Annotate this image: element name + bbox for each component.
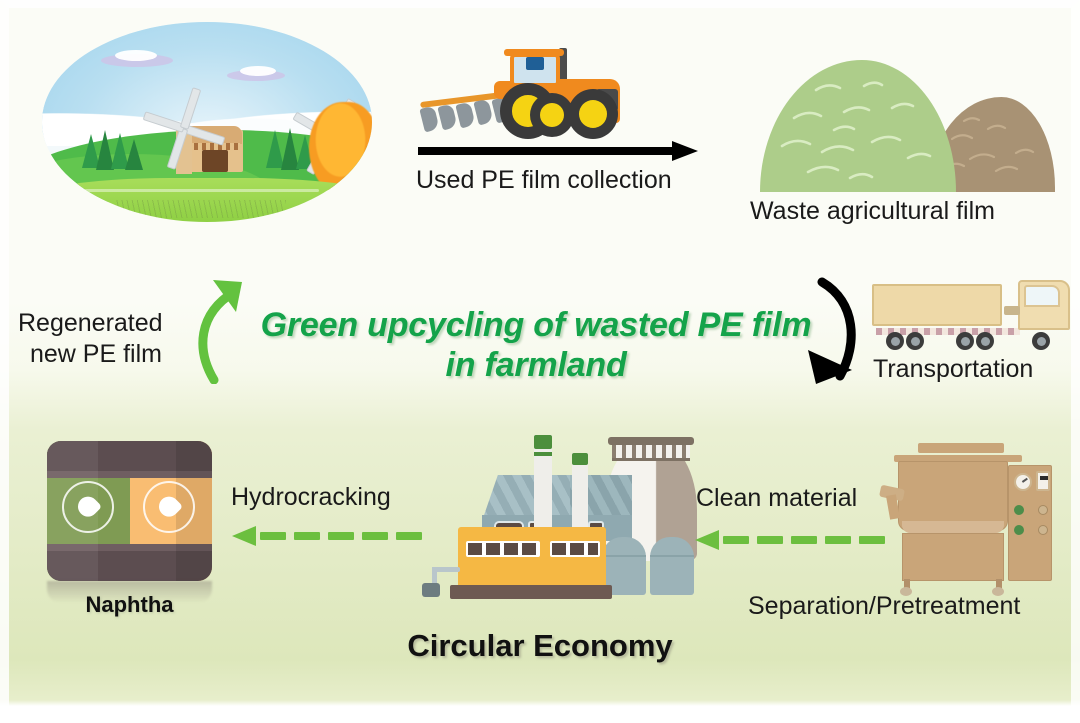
arrow-dash — [396, 532, 422, 540]
machine-button-plain — [1038, 525, 1048, 535]
tractor-icon — [418, 45, 633, 150]
tractor-front-wheel — [568, 89, 618, 139]
separation-machine-icon — [878, 443, 1063, 595]
farm-landscape-icon — [42, 22, 372, 222]
window-row-right — [550, 541, 600, 557]
label-clean-material: Clean material — [696, 484, 857, 513]
label-separation-pretreatment: Separation/Pretreatment — [748, 592, 1020, 621]
machine-lower-body — [902, 533, 1004, 581]
intake-valve — [422, 583, 440, 597]
window-row-left — [466, 541, 540, 557]
page-title: Green upcycling of wasted PE film in far… — [236, 305, 836, 385]
arrow-dash — [791, 536, 817, 544]
cooling-tower-rim — [608, 437, 694, 445]
cab-roof — [504, 49, 564, 56]
label-naphtha: Naphtha — [47, 592, 212, 618]
oil-barrels-icon — [47, 441, 212, 581]
droplet-badge — [143, 481, 195, 533]
truck-cargo-box — [872, 284, 1002, 326]
storage-tank — [650, 537, 694, 595]
cloud-icon — [115, 50, 157, 61]
arrow-used-pe-film-collection — [418, 142, 698, 160]
machine-top-bar — [918, 443, 1004, 453]
section-title-circular-economy: Circular Economy — [0, 628, 1080, 664]
green-pile — [760, 60, 956, 192]
machine-button-plain — [1038, 505, 1048, 515]
truck-wheel — [976, 332, 994, 350]
pile-texture — [760, 60, 956, 192]
arrow-head — [695, 530, 719, 550]
arrow-dash — [328, 532, 354, 540]
factory-icon — [420, 427, 695, 612]
machine-chamber-inner — [902, 521, 1004, 533]
label-regenerated-line2: new PE film — [30, 340, 162, 369]
waste-pile-icon — [742, 42, 1057, 192]
arrow-clean-material — [695, 532, 891, 548]
figure-canvas: Used PE film collection — [0, 0, 1080, 723]
arrow-dash — [260, 532, 286, 540]
droplet-icon — [155, 492, 183, 520]
arrow-transport-down — [800, 272, 880, 390]
truck-window — [1024, 285, 1060, 307]
cloud-icon — [240, 66, 276, 76]
cab-seat — [526, 57, 544, 70]
tree-icon — [125, 139, 143, 170]
truck-wheel — [906, 332, 924, 350]
title-line-2: in farmland — [445, 346, 626, 384]
truck-wheel — [956, 332, 974, 350]
arrow-hydrocracking — [232, 528, 424, 544]
chimney-stripe — [534, 452, 552, 456]
machine-display — [1036, 471, 1050, 491]
tank-band — [650, 555, 694, 557]
pressure-gauge-icon — [1014, 473, 1032, 491]
machine-button-green — [1014, 505, 1024, 515]
arrow-head — [672, 141, 698, 161]
factory-main-building — [458, 527, 606, 589]
grass-texture — [115, 200, 287, 218]
arrow-head — [232, 526, 256, 546]
field-line — [62, 189, 319, 192]
title-line-1: Green upcycling of wasted PE film — [261, 306, 812, 344]
truck-icon — [872, 278, 1072, 358]
arrow-shaft — [418, 147, 672, 155]
chimney-emission — [534, 435, 552, 449]
label-regenerated-line1: Regenerated — [18, 309, 163, 338]
label-hydrocracking: Hydrocracking — [231, 483, 391, 512]
arrow-dash — [362, 532, 388, 540]
label-transportation: Transportation — [873, 355, 1033, 384]
cooling-tower-vents — [612, 445, 690, 461]
chimney-emission — [572, 453, 588, 465]
label-used-pe-film-collection: Used PE film collection — [416, 166, 672, 195]
tank-band — [602, 555, 646, 557]
arrow-dash — [825, 536, 851, 544]
factory-base — [450, 585, 612, 599]
arrow-dash — [294, 532, 320, 540]
arrow-dash — [723, 536, 749, 544]
label-waste-agricultural-film: Waste agricultural film — [750, 197, 995, 226]
windmill-icon — [164, 116, 210, 174]
machine-button-green — [1014, 525, 1024, 535]
truck-wheel — [886, 332, 904, 350]
droplet-icon — [74, 492, 102, 520]
droplet-badge — [62, 481, 114, 533]
truck-wheel — [1032, 332, 1050, 350]
arrow-dash — [757, 536, 783, 544]
truck-coupling — [1004, 306, 1020, 315]
